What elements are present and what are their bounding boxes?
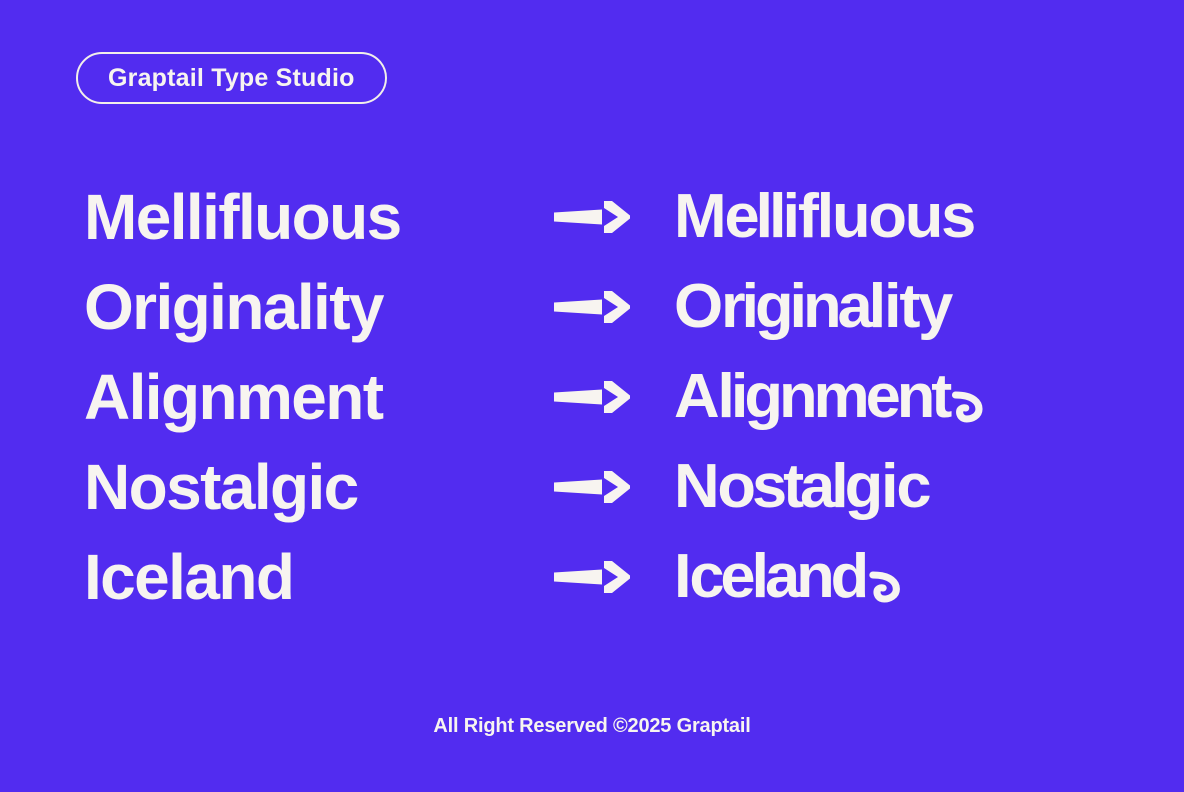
studio-badge-label: Graptail Type Studio xyxy=(108,66,355,91)
word-plain: Mellifluous xyxy=(84,185,401,249)
arrow-cell xyxy=(552,380,644,414)
word-plain: Iceland xyxy=(84,545,293,609)
styled-tail: d xyxy=(831,542,867,611)
word-styled: Iceland xyxy=(674,546,897,608)
specimen-row: Mellifluous Mellifluous xyxy=(0,172,1184,262)
arrow-right-icon xyxy=(552,200,632,234)
specimen-row: Originality Originality xyxy=(0,262,1184,352)
styled-ligature: celan xyxy=(689,542,830,611)
arrow-cell xyxy=(552,290,644,324)
arrow-right-icon xyxy=(552,290,632,324)
specimen-row: Nostalgic Nostalgic xyxy=(0,442,1184,532)
styled-tail: lity xyxy=(869,272,951,341)
specimen-row: Iceland Iceland xyxy=(0,532,1184,622)
word-styled: Nostalgic xyxy=(674,456,929,518)
arrow-right-icon xyxy=(552,380,632,414)
styled-ligature: ostal xyxy=(717,452,844,521)
word-plain: Originality xyxy=(84,275,383,339)
arrow-cell xyxy=(552,560,644,594)
word-plain: Nostalgic xyxy=(84,455,358,519)
swash-flourish-icon xyxy=(951,389,980,421)
styled-ligature: rigina xyxy=(721,272,869,341)
styled-lead: I xyxy=(674,542,689,611)
word-styled: Alignment xyxy=(674,366,980,428)
styled-lead: O xyxy=(674,272,721,341)
styled-lead: M xyxy=(674,182,724,251)
arrow-cell xyxy=(552,200,644,234)
arrow-cell xyxy=(552,470,644,504)
styled-ligature: ell xyxy=(724,182,782,251)
styled-ligature: lignmen xyxy=(717,362,931,431)
word-styled: Mellifluous xyxy=(674,186,974,248)
styled-lead: A xyxy=(674,362,717,431)
styled-tail: gic xyxy=(845,452,930,521)
styled-tail: ifluous xyxy=(783,182,975,251)
specimen-row: Alignment Alignment xyxy=(0,352,1184,442)
styled-lead: N xyxy=(674,452,717,521)
footer: All Right Reserved ©2025 Graptail xyxy=(0,716,1184,737)
specimen-rows: Mellifluous Mellifluous Originality xyxy=(0,172,1184,622)
word-plain: Alignment xyxy=(84,365,382,429)
word-styled: Originality xyxy=(674,276,951,338)
styled-tail: t xyxy=(931,362,950,431)
studio-badge: Graptail Type Studio xyxy=(76,52,387,104)
specimen-canvas: Graptail Type Studio Mellifluous Mellifl… xyxy=(0,0,1184,792)
copyright-text: All Right Reserved ©2025 Graptail xyxy=(433,715,750,737)
arrow-right-icon xyxy=(552,560,632,594)
arrow-right-icon xyxy=(552,470,632,504)
swash-flourish-icon xyxy=(868,569,897,601)
